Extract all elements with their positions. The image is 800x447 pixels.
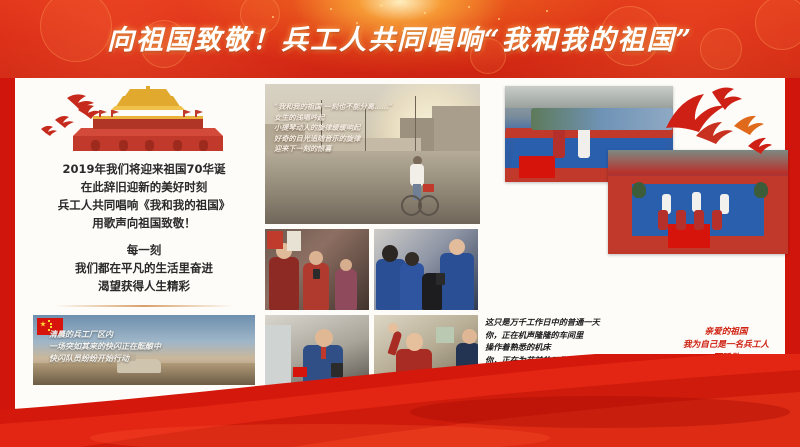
- person-head: [382, 245, 398, 262]
- book-object: [331, 363, 343, 377]
- person-figure: [400, 263, 424, 310]
- person-figure: [692, 192, 701, 212]
- tiananmen-illustration: [33, 86, 255, 156]
- gym-ceiling: [505, 86, 673, 108]
- doves-icon: [662, 84, 774, 162]
- person-head: [406, 333, 423, 351]
- person-head: [405, 252, 419, 266]
- photo-grid: [265, 229, 480, 396]
- road-surface: [265, 151, 480, 224]
- building-shape: [432, 106, 480, 158]
- tribute-text-secondary: 只为您 国泰民安 繁荣昌盛: [651, 394, 785, 426]
- doves-graphic: [662, 84, 774, 162]
- tribute-text-primary: 亲爱的祖国 我为自己是一名兵工人 而骄傲 我为国防事业挥洒汗水 青春无悔！: [651, 326, 785, 391]
- bike-basket: [423, 184, 434, 192]
- spark-particle: [380, 4, 383, 7]
- factory-morning-photo: 清晨的兵工厂区内 一场突如其来的快闪正在酝酿中 快闪队员纷纷开始行动: [33, 315, 255, 385]
- paragraph-gap: [33, 232, 255, 241]
- tree-shape: [415, 96, 416, 158]
- photo-blue-uniform-pair: [374, 229, 478, 310]
- china-flag-icon: [519, 156, 555, 178]
- divider: [54, 305, 234, 307]
- person-figure: [712, 210, 722, 230]
- person-head: [340, 259, 352, 271]
- wall-poster: [287, 231, 301, 251]
- phone-object: [436, 273, 445, 285]
- china-flag-icon: [293, 367, 307, 377]
- person-head: [449, 239, 465, 255]
- phone-object: [313, 269, 320, 279]
- spark-particle: [468, 6, 470, 8]
- person-head: [315, 329, 333, 347]
- lead-text-2: 每一刻 我们都在平凡的生活里奋进 渴望获得人生精彩: [33, 241, 255, 295]
- street-cyclist-photo: “我和我的祖国 一刻也不能分离……” 女生的浅唱吟起 小提琴动人的旋律缓缓响起 …: [265, 84, 480, 224]
- spark-particle: [546, 10, 548, 12]
- person-figure: [396, 349, 432, 396]
- mural-wall: [531, 108, 673, 130]
- person-head: [462, 329, 477, 344]
- hand-shape: [388, 323, 398, 333]
- page-title: 向祖国致敬！兵工人共同唱响“我和我的祖国”: [0, 18, 800, 57]
- lead-text-1: 2019年我们将迎来祖国70华诞 在此辞旧迎新的美好时刻 兵工人共同唱响《我和我…: [33, 160, 255, 232]
- cabinet-shape: [265, 325, 291, 396]
- wall-poster: [267, 231, 283, 249]
- red-tie: [321, 347, 326, 359]
- person-figure: [440, 253, 474, 310]
- lead-paragraph: 2019年我们将迎来祖国70华诞 在此辞旧迎新的美好时刻 兵工人共同唱响《我和我…: [33, 160, 255, 295]
- person-figure: [658, 210, 668, 230]
- cyclist-figure: [401, 156, 435, 216]
- person-figure: [456, 343, 478, 396]
- poster-root: 向祖国致敬！兵工人共同唱响“我和我的祖国”: [0, 0, 800, 447]
- header-banner: 向祖国致敬！兵工人共同唱响“我和我的祖国”: [0, 0, 800, 78]
- wall-picture: [436, 327, 454, 343]
- photo-elderly-singing: [265, 229, 369, 310]
- person-head: [309, 251, 323, 265]
- tree-decoration: [632, 182, 646, 198]
- person-figure: [269, 257, 299, 310]
- photo-man-reading: [265, 315, 369, 396]
- person-figure: [694, 210, 704, 230]
- street-photo-caption: “我和我的祖国 一刻也不能分离……” 女生的浅唱吟起 小提琴动人的旋律缓缓响起 …: [274, 102, 393, 155]
- cyclist-body: [410, 164, 424, 186]
- tree-decoration: [754, 182, 768, 198]
- person-figure: [676, 210, 686, 230]
- photo-gym-group: [608, 150, 788, 254]
- person-figure: [335, 269, 357, 310]
- spark-particle: [330, 8, 332, 10]
- left-column: 2019年我们将迎来祖国70华诞 在此辞旧迎新的美好时刻 兵工人共同唱响《我和我…: [33, 86, 255, 385]
- middle-column: “我和我的祖国 一刻也不能分离……” 女生的浅唱吟起 小提琴动人的旋律缓缓响起 …: [265, 84, 480, 396]
- photo-waving-woman: [374, 315, 478, 396]
- bike-wheel: [418, 195, 439, 216]
- body-text-main: 这只是万千工作日中的普通一天 你，正在机声隆隆的车间里 操作着熟悉的机床 你，正…: [485, 316, 660, 426]
- spark-particle: [424, 12, 426, 14]
- factory-photo-caption: 清晨的兵工厂区内 一场突如其来的快闪正在酝酿中 快闪队员纷纷开始行动: [49, 328, 161, 364]
- tiananmen-gate-icon: [33, 86, 255, 156]
